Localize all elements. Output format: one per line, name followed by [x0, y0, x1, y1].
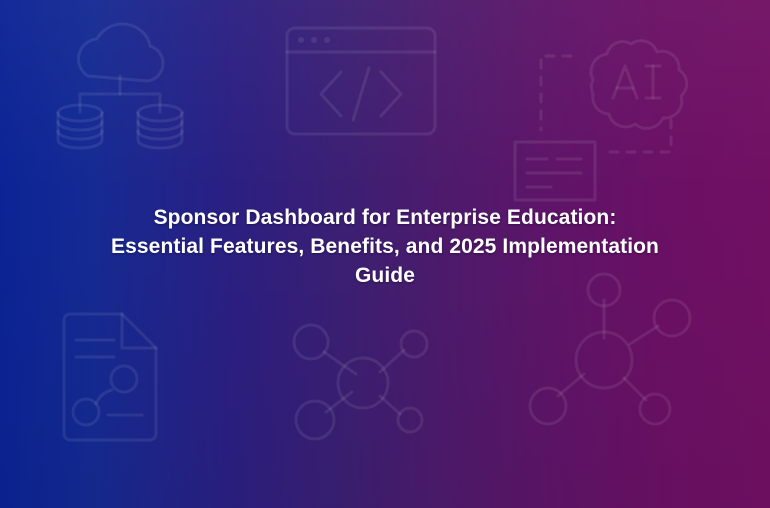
network-hub-icon	[542, 296, 707, 441]
cloud-database-icon	[58, 18, 188, 143]
page-title: Sponsor Dashboard for Enterprise Educati…	[0, 203, 770, 290]
headline-text: Sponsor Dashboard for Enterprise Educati…	[110, 203, 660, 290]
network-nodes-x-icon	[288, 316, 438, 441]
code-window-icon	[285, 26, 437, 136]
ai-brain-icon	[513, 22, 718, 202]
document-flow-icon	[58, 312, 163, 442]
article-hero-banner: Sponsor Dashboard for Enterprise Educati…	[0, 0, 770, 508]
